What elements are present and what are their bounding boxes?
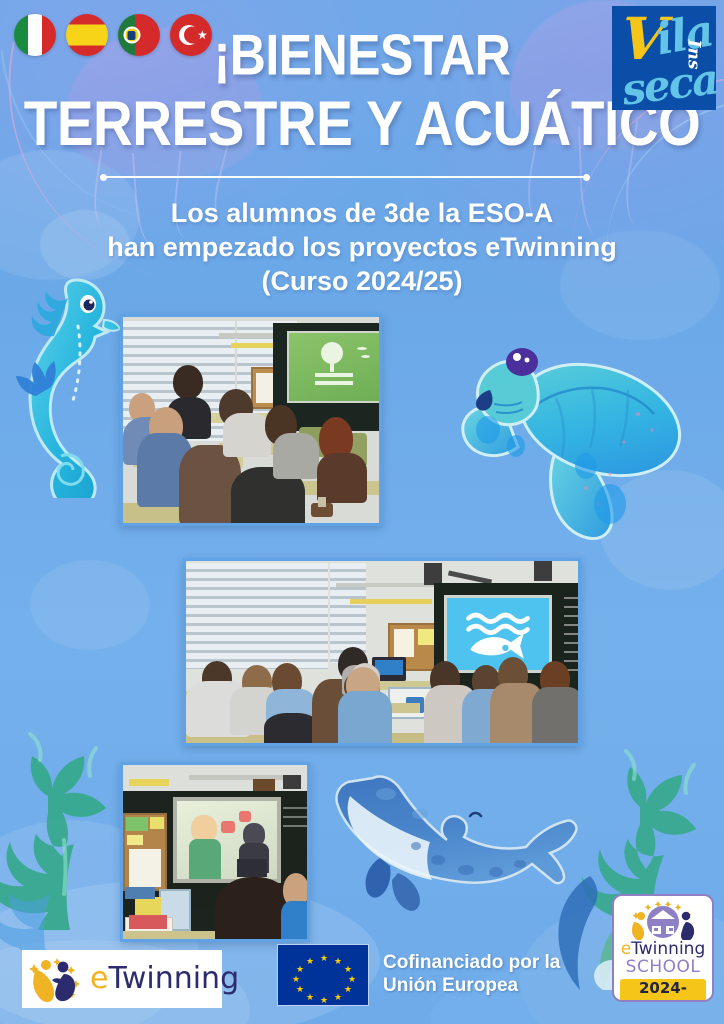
projection-screen-cartoon	[173, 797, 281, 883]
eu-cofunding-line-2: Unión Europea	[383, 975, 560, 998]
portugal-flag	[118, 14, 160, 56]
svg-text:★: ★	[344, 964, 352, 974]
badge-years-label: 2024-2025	[620, 979, 706, 1002]
speaker	[424, 563, 442, 585]
poster-canvas: ★ V ila Ins seca ¡BIENESTAR TERRESTRE Y …	[0, 0, 724, 1024]
cartoon-person	[189, 839, 221, 879]
subtitle-line-1: Los alumnos de 3de la ESO-A	[0, 196, 724, 230]
svg-text:★: ★	[306, 956, 314, 966]
etwinning-wordmark-twinning: Twinning	[108, 961, 239, 996]
etwinning-wordmark: eTwinning	[90, 964, 239, 994]
photo-classroom-fish-screen	[183, 558, 581, 746]
chalk-writing	[564, 597, 581, 675]
student	[338, 691, 392, 746]
eu-cofunding-line-1: Cofinanciado por la	[383, 952, 560, 975]
school-logo-seca: seca	[620, 58, 720, 111]
svg-text:★: ★	[348, 974, 356, 984]
student	[273, 433, 319, 479]
svg-text:★: ★	[296, 984, 304, 994]
yellow-tape	[350, 599, 432, 604]
student	[532, 687, 581, 746]
svg-text:★: ★	[306, 992, 314, 1002]
turkey-flag: ★	[170, 14, 212, 56]
coral-illustration	[0, 800, 140, 970]
italy-flag	[14, 14, 56, 56]
student	[281, 901, 310, 942]
photo-classroom-cartoon-screen	[120, 762, 310, 942]
projection-screen-tree	[287, 331, 381, 403]
chalk-writing	[283, 807, 310, 833]
cartoon-laptop	[237, 859, 267, 877]
student	[173, 365, 203, 399]
svg-text:★: ★	[296, 964, 304, 974]
notice-paper	[129, 849, 161, 887]
etwinning-logo: eTwinning	[22, 950, 222, 1008]
cartoon-speech-bubble	[221, 821, 235, 833]
etwinning-school-badge: eTwinning SCHOOL 2024-2025 eTwinning	[612, 894, 714, 1002]
badge-wordmark-twinning: Twinning	[631, 939, 705, 959]
partner-country-flags: ★	[14, 14, 212, 56]
photo-classroom-tree-screen	[120, 314, 382, 526]
speaker	[283, 775, 301, 789]
notice-paper	[394, 629, 414, 657]
eu-cofunding-block: ★ ★ ★ ★ ★ ★ ★ ★ ★ ★ ★ ★ Cofinanciado por…	[277, 944, 560, 1006]
svg-text:★: ★	[292, 974, 300, 984]
shelf-books	[125, 887, 155, 899]
badge-wordmark-e: e	[621, 939, 631, 959]
badge-school-label: SCHOOL	[626, 959, 701, 977]
notice-paper	[127, 835, 143, 845]
projection-screen-fish	[444, 595, 552, 673]
water-blob	[30, 560, 150, 650]
svg-text:★: ★	[334, 992, 342, 1002]
spain-flag	[66, 14, 108, 56]
european-union-flag: ★ ★ ★ ★ ★ ★ ★ ★ ★ ★ ★ ★	[277, 944, 369, 1006]
cartoon-speech-bubble	[239, 811, 251, 822]
seahorse-illustration	[6, 268, 126, 498]
school-logo-vila-seca: V ila Ins seca	[612, 6, 716, 110]
notice-paper	[126, 817, 148, 831]
yellow-sign	[129, 779, 169, 786]
etwinning-wordmark-e: e	[90, 961, 108, 996]
eu-cofunding-text: Cofinanciado por la Unión Europea	[383, 952, 560, 998]
etwinning-mark-icon	[28, 956, 86, 1002]
svg-text:★: ★	[320, 995, 328, 1005]
student	[223, 413, 271, 457]
notice-paper	[150, 817, 164, 829]
svg-text:★: ★	[334, 956, 342, 966]
subtitle-line-3: (Curso 2024/25)	[0, 264, 724, 298]
title-divider	[100, 174, 590, 180]
poster-subtitle: Los alumnos de 3de la ESO-A han empezado…	[0, 196, 724, 298]
student	[317, 453, 367, 503]
svg-text:★: ★	[344, 984, 352, 994]
whale-illustration	[320, 760, 620, 930]
sea-turtle-illustration	[460, 318, 700, 558]
svg-text:★: ★	[320, 953, 328, 963]
speaker	[534, 561, 552, 581]
desk-object	[318, 497, 326, 507]
subtitle-line-2: han empezado los proyectos eTwinning	[0, 230, 724, 264]
desk-paper	[129, 915, 167, 929]
etwinning-school-mark-icon	[626, 900, 700, 940]
